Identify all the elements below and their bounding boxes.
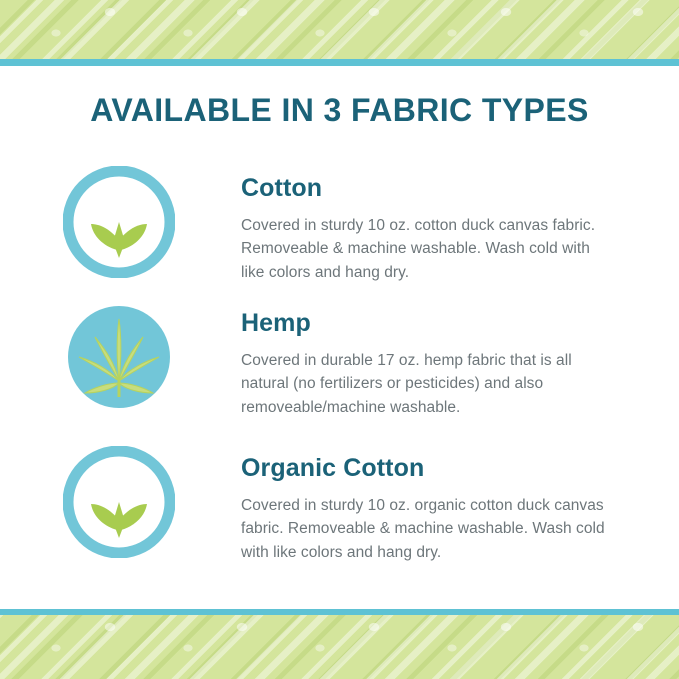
cotton-boll-icon	[63, 446, 175, 558]
top-band-pattern	[0, 0, 679, 60]
fabric-list: Cotton Covered in sturdy 10 oz. cotton d…	[0, 166, 679, 586]
cotton-boll-icon	[63, 166, 175, 278]
infographic-page: AVAILABLE IN 3 FABRIC TYPES	[0, 0, 679, 679]
fabric-row-hemp: Hemp Covered in durable 17 oz. hemp fabr…	[0, 301, 679, 446]
fabric-heading-hemp: Hemp	[241, 310, 613, 338]
fabric-row-organic-cotton: Organic Cotton Covered in sturdy 10 oz. …	[0, 446, 679, 586]
fabric-body-organic-cotton: Covered in sturdy 10 oz. organic cotton …	[241, 494, 613, 565]
fabric-text-hemp: Hemp Covered in durable 17 oz. hemp fabr…	[241, 301, 613, 419]
fabric-body-hemp: Covered in durable 17 oz. hemp fabric th…	[241, 349, 613, 420]
bottom-band-pattern	[0, 615, 679, 679]
page-title: AVAILABLE IN 3 FABRIC TYPES	[0, 92, 679, 129]
top-decorative-band	[0, 0, 679, 66]
top-band-rule	[0, 59, 679, 66]
fabric-row-cotton: Cotton Covered in sturdy 10 oz. cotton d…	[0, 166, 679, 301]
fabric-body-cotton: Covered in sturdy 10 oz. cotton duck can…	[241, 214, 613, 285]
fabric-text-organic-cotton: Organic Cotton Covered in sturdy 10 oz. …	[241, 446, 613, 564]
fabric-heading-cotton: Cotton	[241, 175, 613, 203]
hemp-leaf-icon	[63, 301, 175, 413]
bottom-decorative-band	[0, 609, 679, 679]
fabric-text-cotton: Cotton Covered in sturdy 10 oz. cotton d…	[241, 166, 613, 284]
fabric-heading-organic-cotton: Organic Cotton	[241, 455, 613, 483]
